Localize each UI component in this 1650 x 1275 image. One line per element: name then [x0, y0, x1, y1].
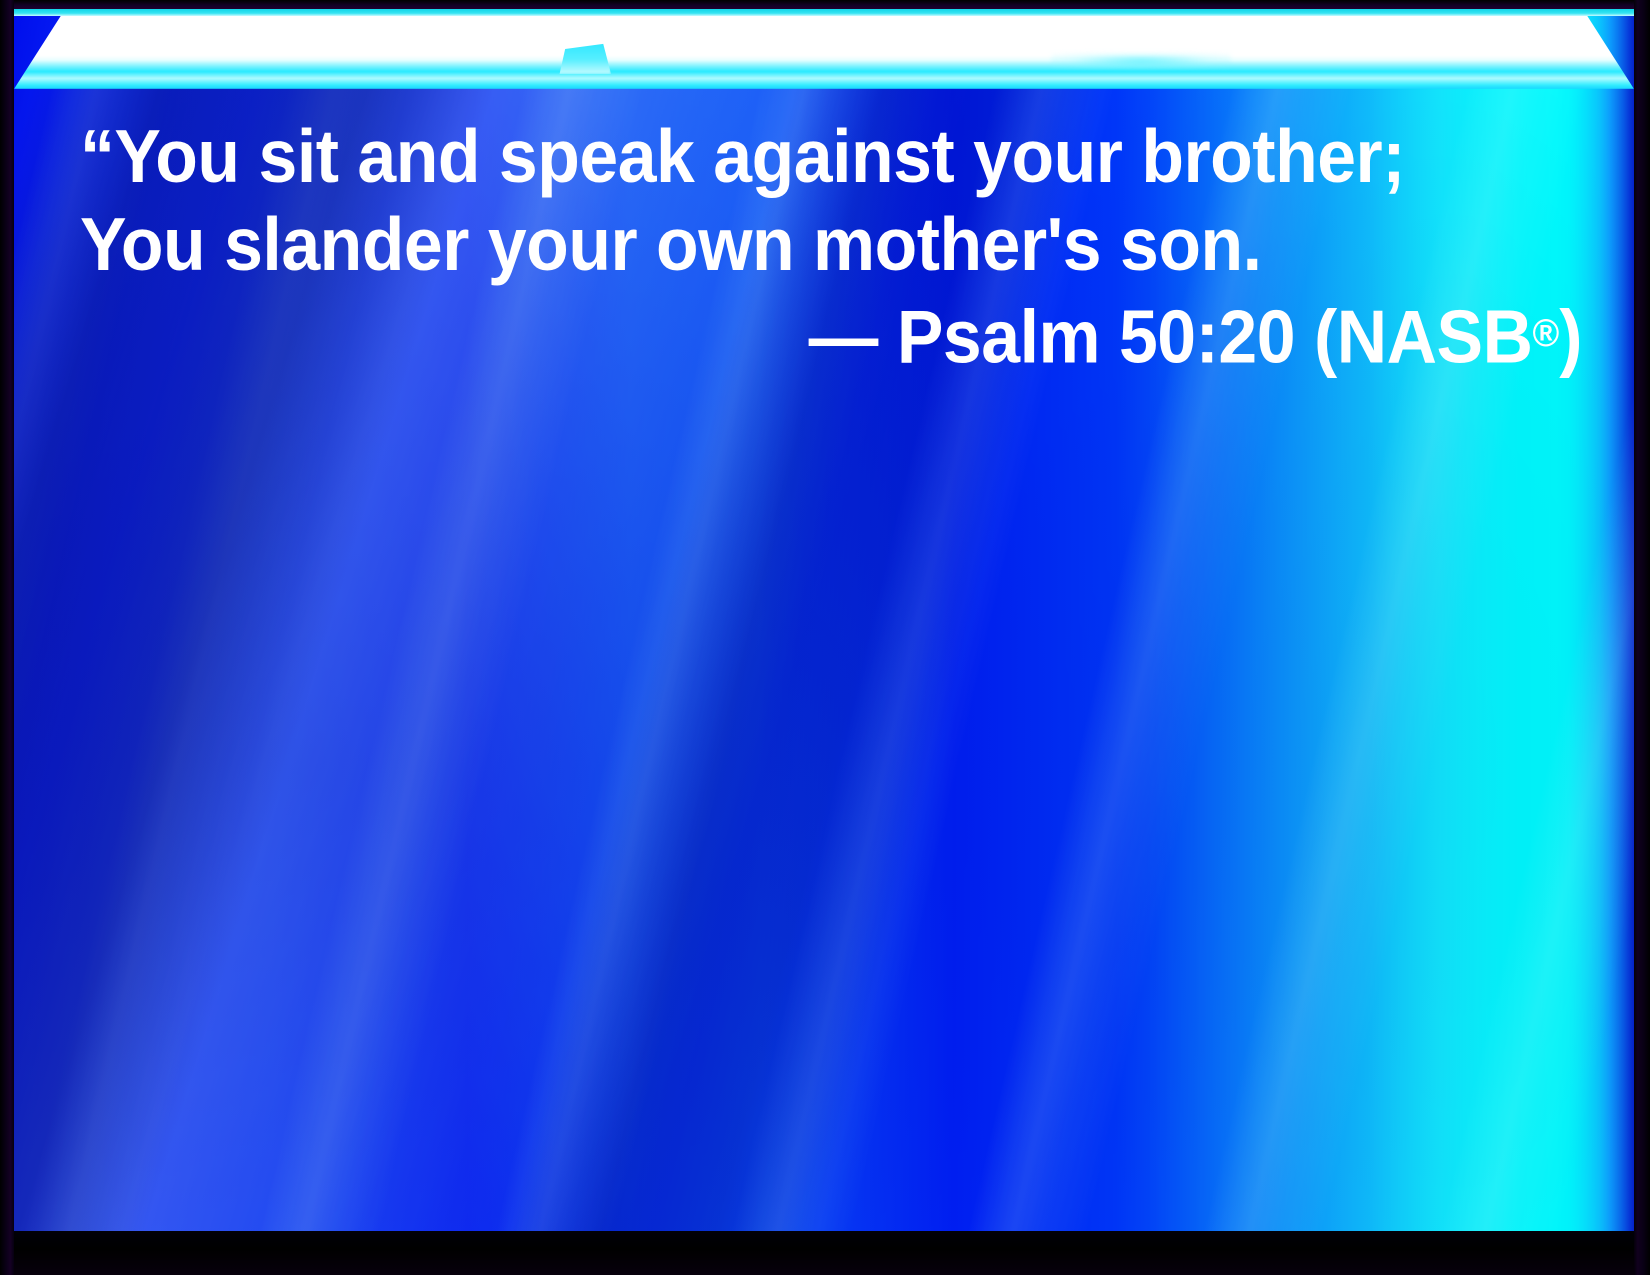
- frame-border-right: [1634, 0, 1650, 1275]
- verse-reference: — Psalm 50:20 (NASB®): [185, 288, 1582, 382]
- verse-text-block: “You sit and speak against your brother;…: [0, 112, 1650, 382]
- frame-border-bottom: [0, 1231, 1650, 1275]
- banner-white-shape: [14, 13, 1634, 89]
- verse-slide: “You sit and speak against your brother;…: [0, 0, 1650, 1275]
- top-banner: [14, 9, 1634, 89]
- banner-cyan-smudge: [1051, 53, 1231, 69]
- verse-line-2: You slander your own mother's son.: [80, 200, 1477, 288]
- verse-reference-suffix: ): [1559, 294, 1582, 378]
- frame-border-left: [0, 0, 14, 1275]
- verse-reference-prefix: — Psalm 50:20 (NASB: [809, 294, 1533, 378]
- frame-border-top: [0, 0, 1650, 9]
- banner-cyan-line: [14, 9, 1634, 16]
- registered-trademark-icon: ®: [1532, 312, 1559, 355]
- verse-line-1: “You sit and speak against your brother;: [80, 112, 1477, 200]
